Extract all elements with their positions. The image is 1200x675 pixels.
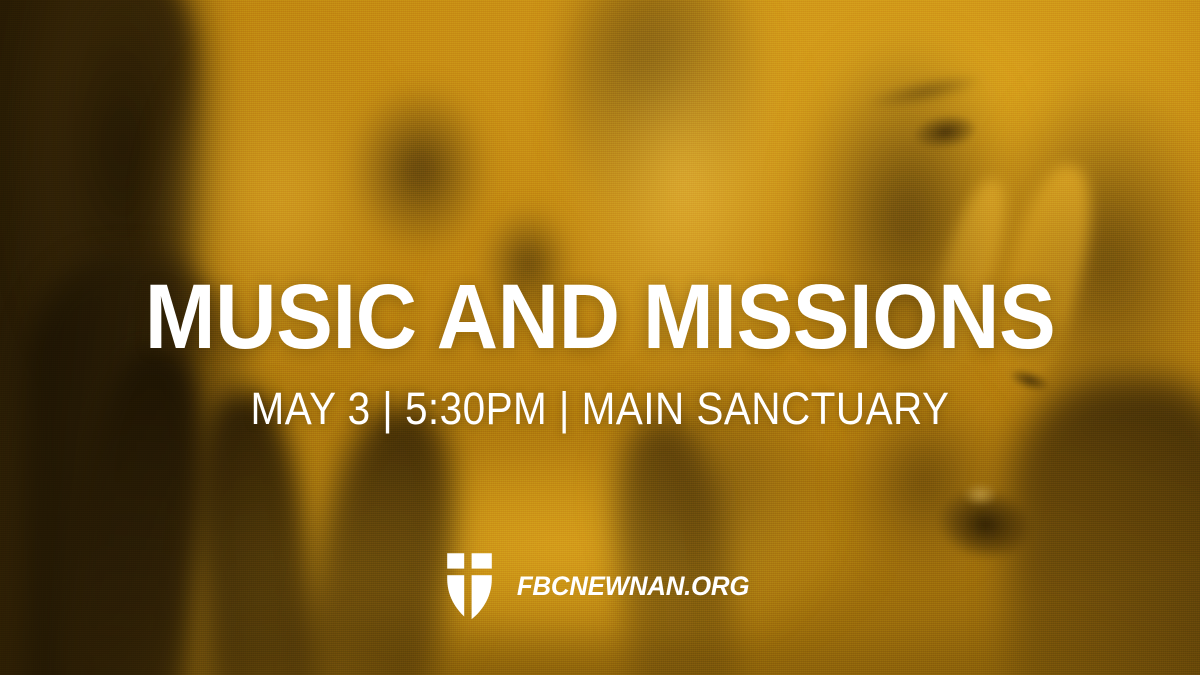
- shield-cross-icon: [446, 552, 493, 622]
- poster-content-overlay: MUSIC AND MISSIONS MAY 3 | 5:30PM | MAIN…: [0, 0, 1200, 675]
- event-poster: MUSIC AND MISSIONS MAY 3 | 5:30PM | MAIN…: [0, 0, 1200, 675]
- event-title: MUSIC AND MISSIONS: [45, 271, 1155, 363]
- event-details-line: MAY 3 | 5:30PM | MAIN SANCTUARY: [60, 386, 1140, 431]
- logo-wordmark: FBCNEWNAN.ORG: [517, 573, 749, 602]
- logo-lockup[interactable]: FBCNEWNAN.ORG: [0, 552, 1200, 622]
